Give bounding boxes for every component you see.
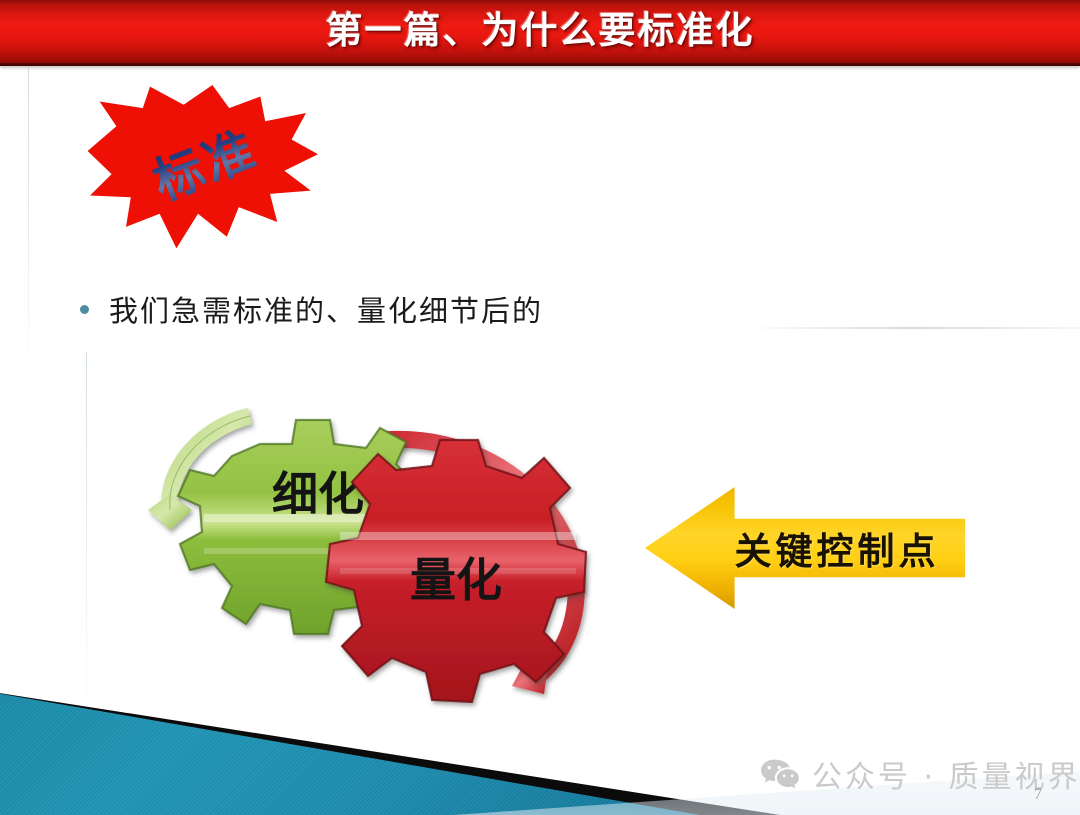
bullet-item: 我们急需标准的、量化细节后的 <box>80 288 543 330</box>
gear-green-label: 细化 <box>272 467 364 521</box>
starburst-badge: 标准 <box>78 85 318 250</box>
watermark: 公众号 · 质量视界 <box>760 752 1080 796</box>
bullet-item-text: 我们急需标准的、量化细节后的 <box>109 288 543 330</box>
panel-left-guide <box>28 68 29 353</box>
panel-left-guide-lower <box>86 352 87 704</box>
bullet-dot-icon <box>80 305 89 314</box>
gears-svg: 细化 量化 <box>140 398 630 718</box>
content-divider <box>745 327 1080 329</box>
page-title: 第一篇、为什么要标准化 <box>0 0 1080 66</box>
wechat-icon <box>760 758 800 790</box>
page-number: 7 <box>1034 786 1042 804</box>
slide-canvas: 第一篇、为什么要标准化 标准 我们急需标准的、量化细节后的 <box>0 0 1080 815</box>
gear-red-label: 量化 <box>410 553 502 607</box>
gears-diagram: 细化 量化 <box>140 398 630 718</box>
key-control-point-label: 关键控制点 <box>717 487 957 609</box>
key-control-point-callout: 关键控制点 <box>645 487 965 609</box>
